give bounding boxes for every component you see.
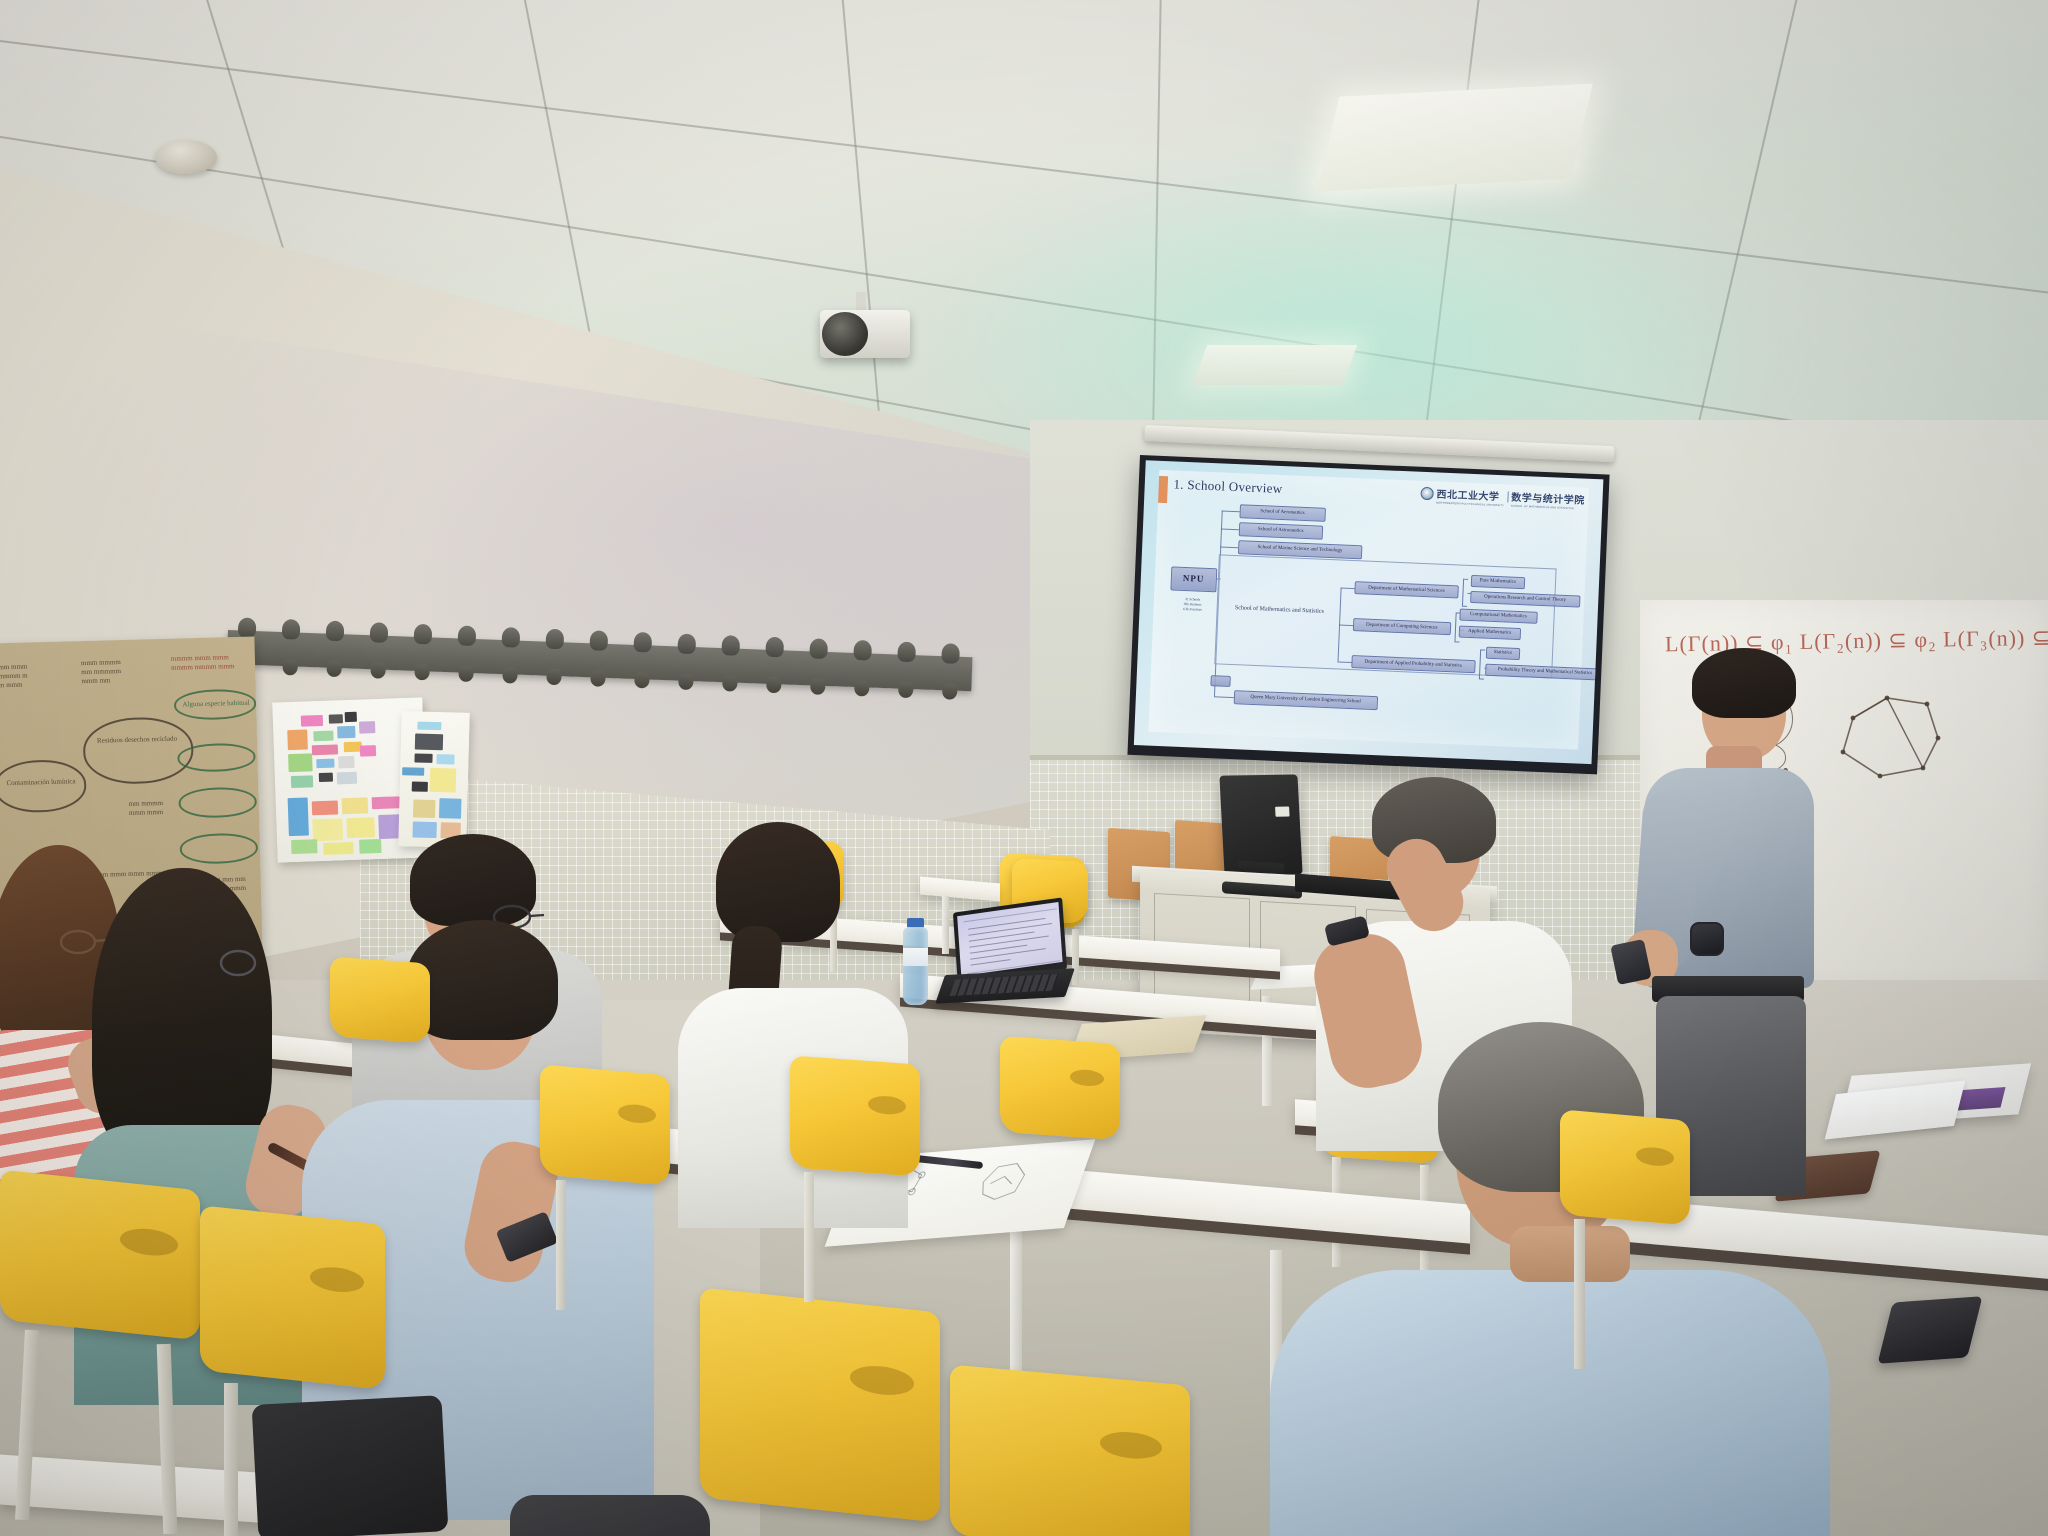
slide-node-program: Applied Mathematics — [1458, 625, 1520, 640]
projection-screen-surface: 1. School Overview 西北工业大学 NORTHWESTERN P… — [1134, 460, 1604, 764]
glasses-icon — [204, 946, 264, 978]
laptop-keys[interactable] — [950, 974, 1059, 996]
slide-node-program: Statistics — [1486, 646, 1520, 659]
coat-hook-icon — [414, 624, 433, 645]
coat-hook-icon — [853, 640, 872, 661]
slide-node-school: School of Astronautics — [1238, 522, 1323, 540]
ceiling-light-panel-2 — [1193, 345, 1358, 385]
logo-divider — [1507, 492, 1508, 503]
ceiling-light-panel — [1317, 84, 1593, 192]
coat-hook-icon — [765, 637, 784, 658]
coat-hook-icon — [941, 643, 960, 664]
slide-node-school: School of Aeronautics — [1239, 504, 1326, 522]
classroom-photo: Contaminación lumínica Residuos desechos… — [0, 0, 2048, 1536]
coat-hook-icon — [502, 627, 521, 648]
monitor-sticker — [1275, 807, 1290, 817]
university-seal-icon — [1420, 487, 1434, 501]
slide-node-program: Pure Mathematics — [1471, 575, 1525, 589]
slide-node-program: Probability Theory and Mathematical Stat… — [1485, 663, 1604, 680]
coat-hook-icon — [370, 622, 389, 643]
coat-hook-icon — [633, 632, 652, 653]
backpack[interactable] — [252, 1395, 449, 1536]
slide-npu-stats: 21 Schools 38k Students 4.3k Faculties — [1170, 596, 1215, 613]
coat-hook-icon — [326, 621, 345, 642]
smoke-detector-icon — [155, 140, 217, 174]
wristwatch — [1690, 922, 1724, 956]
coat-hook-icon — [546, 629, 565, 650]
trousers — [510, 1495, 710, 1536]
coat-hook-icon — [458, 625, 477, 646]
university-name-cn: 西北工业大学 — [1436, 489, 1499, 503]
slide-node-collapsed — [1210, 675, 1230, 687]
poster-bubble-label: Contaminación lumínica — [6, 777, 76, 788]
npu-stat: 4.3k Faculties — [1170, 606, 1214, 613]
poster-bubble-label: Alguna especie habitual — [182, 699, 250, 710]
poster-collage-right — [398, 711, 470, 848]
whiteboard-heptagon-diagram — [1835, 690, 1955, 785]
coat-hook-icon — [897, 642, 916, 663]
monitor — [1219, 774, 1302, 875]
slide-title: 1. School Overview — [1173, 476, 1283, 497]
neck — [1510, 1226, 1630, 1282]
laptop-screen-content — [957, 902, 1062, 976]
coat-hook-icon — [590, 630, 609, 651]
slide-node-npu: NPU — [1170, 566, 1217, 592]
tablet-device[interactable] — [1877, 1296, 1982, 1363]
slide-node-partner-school: Queen Mary University of London Engineer… — [1233, 690, 1377, 710]
coat-hook-icon — [721, 635, 740, 656]
presentation-slide: 1. School Overview 西北工业大学 NORTHWESTERN P… — [1148, 469, 1589, 749]
slide-logo: 西北工业大学 NORTHWESTERN POLYTECHNICAL UNIVER… — [1420, 483, 1585, 510]
coat-hook-icon — [282, 619, 301, 640]
coat-hook-icon — [238, 617, 257, 638]
projection-screen: 1. School Overview 西北工业大学 NORTHWESTERN P… — [1127, 455, 1609, 774]
projector-lens-icon — [822, 312, 868, 356]
coat-hook-icon — [809, 638, 828, 659]
coat-hook-icon — [677, 633, 696, 654]
slide-accent-bar — [1158, 475, 1168, 502]
